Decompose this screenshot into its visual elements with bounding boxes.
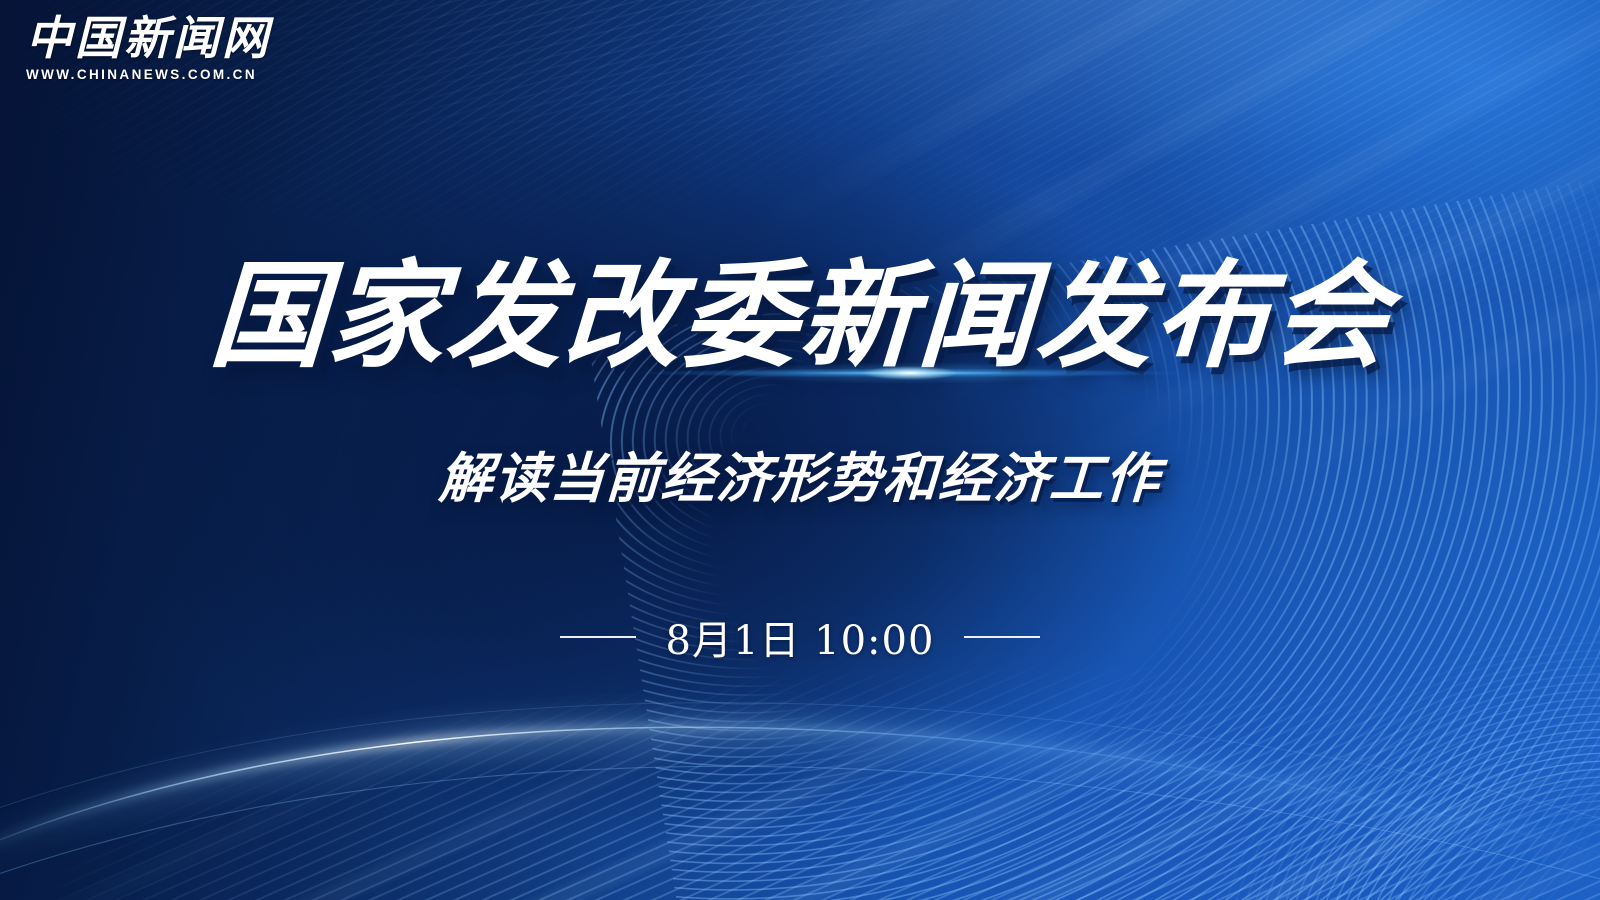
logo-website-url: WWW.CHINANEWS.COM.CN [26, 67, 271, 82]
chinanews-logo[interactable]: 中国新闻网 WWW.CHINANEWS.COM.CN [26, 14, 271, 82]
page-title: 国家发改委新闻发布会 [0, 252, 1600, 382]
datetime-row: 8月1日 10:00 [0, 608, 1600, 666]
hero-content: 国家发改委新闻发布会 解读当前经济形势和经济工作 8月1日 10:00 [0, 252, 1600, 666]
event-datetime: 8月1日 10:00 [666, 608, 935, 666]
logo-wordmark: 中国新闻网 [26, 14, 271, 62]
rule-right-icon [964, 636, 1040, 638]
press-conference-poster: 中国新闻网 WWW.CHINANEWS.COM.CN 国家发改委新闻发布会 解读… [0, 0, 1600, 900]
rule-left-icon [560, 636, 636, 638]
page-subtitle: 解读当前经济形势和经济工作 [0, 434, 1600, 513]
